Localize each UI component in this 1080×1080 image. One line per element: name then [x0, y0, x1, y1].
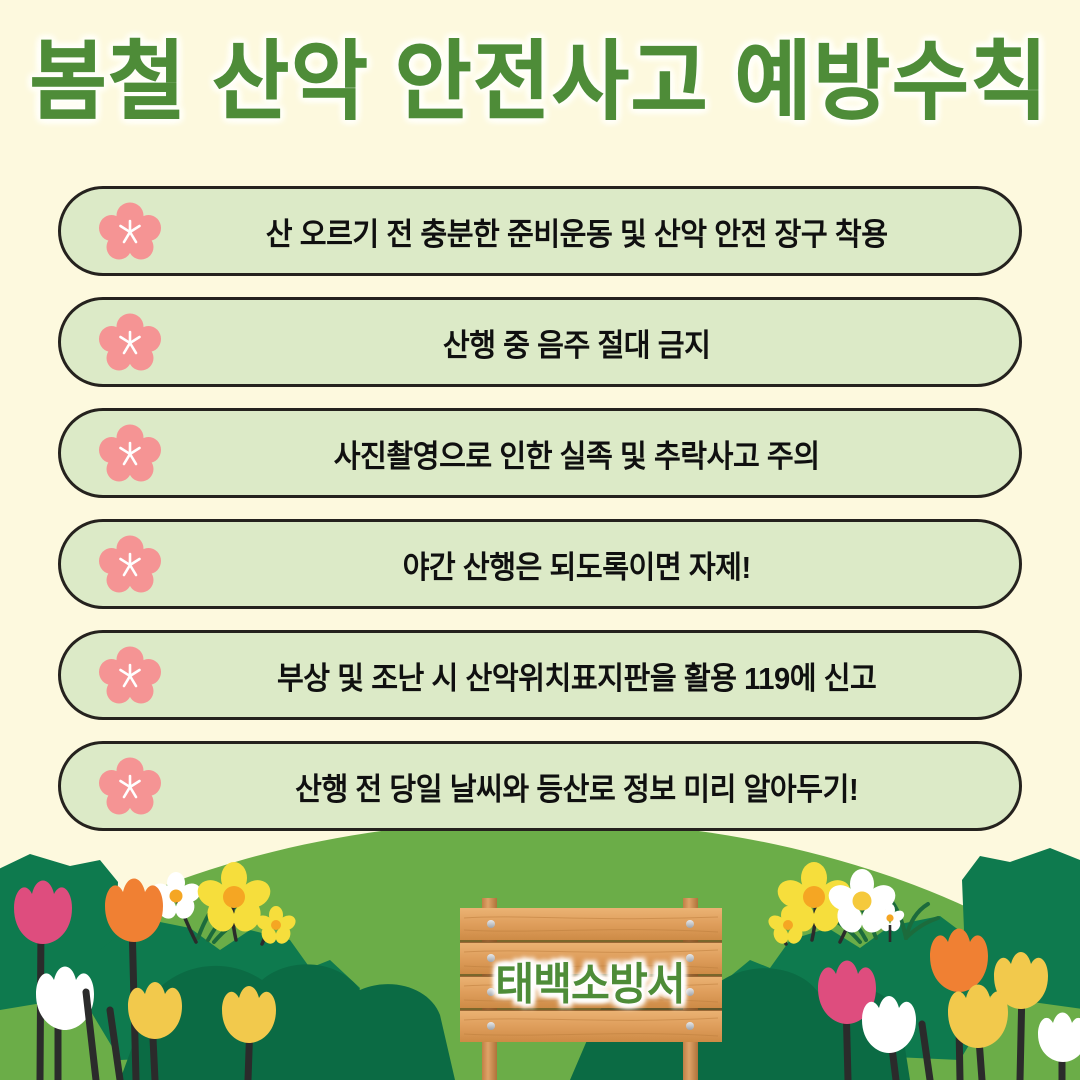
list-item[interactable]: 부상 및 조난 시 산악위치표지판을 활용 119에 신고 [58, 630, 1022, 720]
safety-poster: 봄철 산악 안전사고 예방수칙 [0, 0, 1080, 1080]
list-item[interactable]: 야간 산행은 되도록이면 자제! [58, 519, 1022, 609]
sign-planks [460, 908, 722, 1042]
list-item[interactable]: 사진촬영으로 인한 실족 및 추락사고 주의 [58, 408, 1022, 498]
list-item-label: 산행 전 당일 날씨와 등산로 정보 미리 알아두기! [90, 764, 991, 809]
list-item-label: 산 오르기 전 충분한 준비운동 및 산악 안전 장구 착용 [90, 209, 991, 254]
list-item-label: 야간 산행은 되도록이면 자제! [90, 542, 991, 587]
wooden-signboard[interactable]: 태백소방서 [440, 890, 740, 1080]
list-item[interactable]: 산 오르기 전 충분한 준비운동 및 산악 안전 장구 착용 [58, 186, 1022, 276]
list-item[interactable]: 산행 전 당일 날씨와 등산로 정보 미리 알아두기! [58, 741, 1022, 831]
list-item-label: 산행 중 음주 절대 금지 [90, 320, 991, 365]
page-title: 봄철 산악 안전사고 예방수칙 [30, 34, 1050, 130]
rules-list: 산 오르기 전 충분한 준비운동 및 산악 안전 장구 착용 [58, 186, 1022, 852]
list-item[interactable]: 산행 중 음주 절대 금지 [58, 297, 1022, 387]
page-title-wrap: 봄철 산악 안전사고 예방수칙 [0, 34, 1080, 130]
list-item-label: 부상 및 조난 시 산악위치표지판을 활용 119에 신고 [90, 653, 991, 698]
list-item-label: 사진촬영으로 인한 실족 및 추락사고 주의 [90, 431, 991, 476]
